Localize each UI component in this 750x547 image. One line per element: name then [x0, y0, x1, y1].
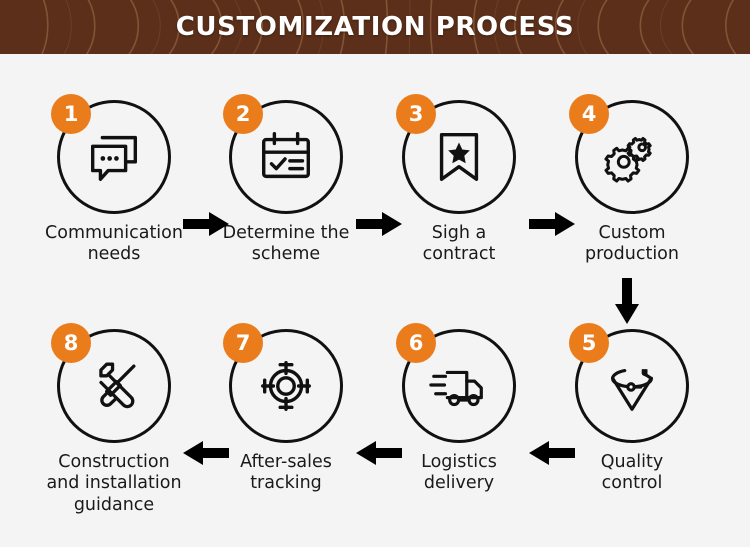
step-number-badge-7: 7 — [223, 323, 263, 363]
step-number-badge-4: 4 — [569, 94, 609, 134]
process-step-1[interactable]: 1 Communication needs — [28, 100, 200, 266]
delivery-truck-icon — [428, 355, 490, 417]
flow-arrow-2-to-3 — [356, 209, 404, 239]
step-label-8: Construction and installation guidance — [24, 452, 204, 516]
step-number-badge-6: 6 — [396, 323, 436, 363]
flow-arrow-3-to-4 — [529, 209, 577, 239]
step-number-badge-2: 2 — [223, 94, 263, 134]
step-number-badge-1: 1 — [51, 94, 91, 134]
gears-icon — [601, 126, 663, 188]
step-number-badge-8: 8 — [51, 323, 91, 363]
funnel-orbit-icon — [601, 355, 663, 417]
calendar-check-icon — [255, 126, 317, 188]
flow-arrow-6-to-7 — [356, 438, 404, 468]
step-number-badge-3: 3 — [396, 94, 436, 134]
process-step-2[interactable]: 2 Determine the scheme — [200, 100, 372, 266]
wrench-screwdriver-icon — [83, 355, 145, 417]
process-step-8[interactable]: 8 Construction and installation guidance — [28, 329, 200, 516]
bookmark-star-icon — [428, 126, 490, 188]
page-title: CUSTOMIZATION PROCESS — [0, 0, 750, 54]
process-step-4[interactable]: 4 Custom production — [546, 100, 718, 266]
header-banner: CUSTOMIZATION PROCESS — [0, 0, 750, 54]
process-step-3[interactable]: 3 Sigh a contract — [373, 100, 545, 266]
process-flow-diagram: 1 Communication needs 2 — [0, 54, 750, 547]
step-label-1: Communication needs — [24, 223, 204, 266]
flow-arrow-4-to-5 — [612, 278, 642, 326]
flow-arrow-5-to-6 — [529, 438, 577, 468]
process-step-6[interactable]: 6 Logistics deli — [373, 329, 545, 495]
flow-arrow-7-to-8 — [183, 438, 231, 468]
process-step-7[interactable]: 7 After-sales tracking — [200, 329, 372, 495]
chat-bubbles-icon — [83, 126, 145, 188]
flow-arrow-1-to-2 — [183, 209, 231, 239]
step-number-badge-5: 5 — [569, 323, 609, 363]
process-step-5[interactable]: 5 Quality control — [546, 329, 718, 495]
crosshair-target-icon — [255, 355, 317, 417]
